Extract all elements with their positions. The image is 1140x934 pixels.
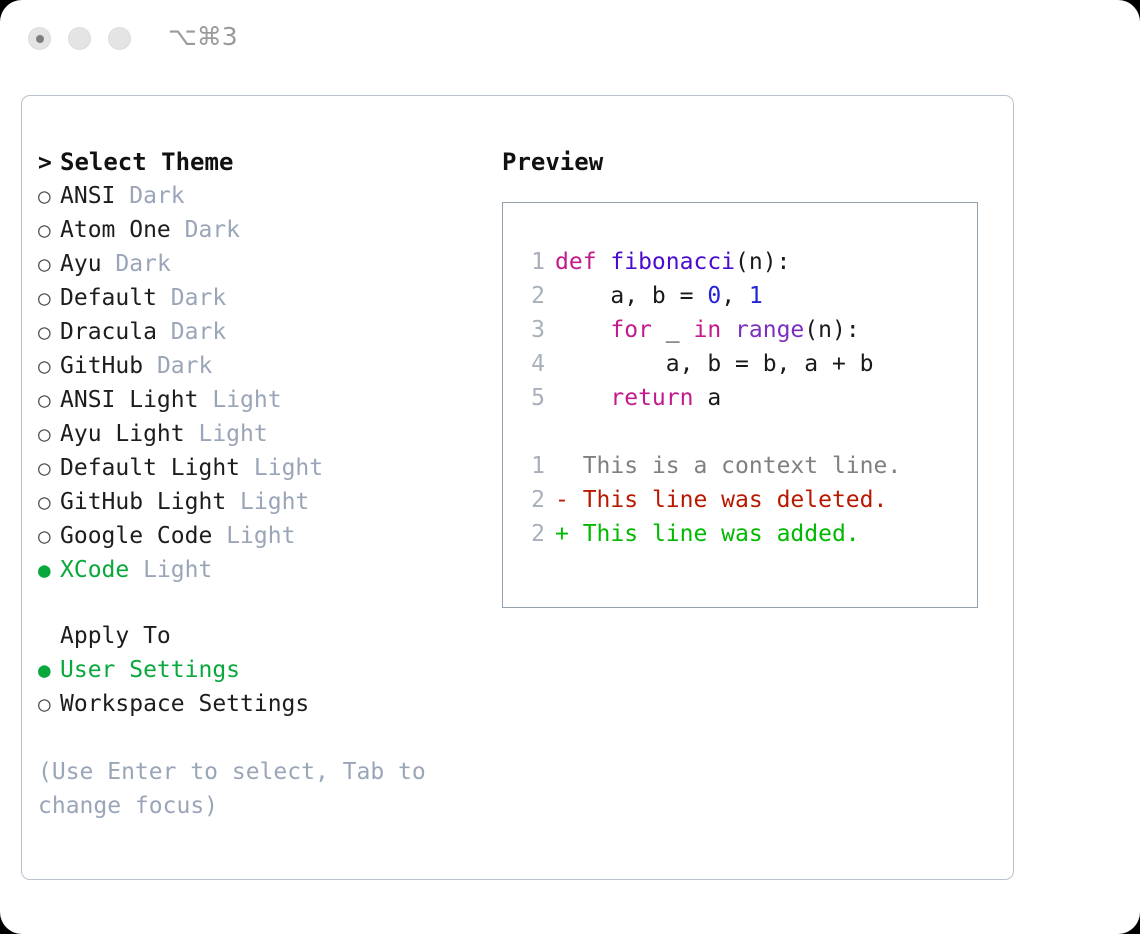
theme-name-label: Google Code (60, 523, 212, 549)
code-token (555, 385, 610, 411)
preview-column: Preview 1def fibonacci(n):2 a, b = 0, 13… (502, 145, 1002, 608)
theme-list-item[interactable]: ●XCode Light (38, 553, 468, 587)
theme-kind-label: Light (143, 557, 212, 583)
theme-name-label: Ayu Light (60, 421, 185, 447)
window-dot-active-core (36, 35, 44, 43)
theme-list-item[interactable]: ○Google Code Light (38, 519, 468, 553)
theme-kind-label: Dark (171, 285, 226, 311)
diff-line: 2- This line was deleted. (523, 483, 901, 517)
theme-list-item[interactable]: ○Ayu Dark (38, 247, 468, 281)
theme-list: ○ANSI Dark○Atom One Dark○Ayu Dark○Defaul… (38, 179, 468, 587)
keyboard-hint-text: (Use Enter to select, Tab to change focu… (38, 755, 438, 823)
theme-kind-label: Dark (115, 251, 170, 277)
code-line: 1def fibonacci(n): (523, 245, 901, 279)
window-dot-three[interactable] (108, 27, 131, 50)
diff-text: This line was deleted. (569, 487, 888, 513)
apply-to-option[interactable]: ○Workspace Settings (38, 687, 468, 721)
apply-to-option-label: Workspace Settings (60, 691, 309, 717)
theme-list-item[interactable]: ○ANSI Light Light (38, 383, 468, 417)
diff-marker: - (555, 487, 569, 513)
code-line: 4 a, b = b, a + b (523, 347, 901, 381)
code-token: a, b = (555, 283, 707, 309)
radio-unselected-icon[interactable]: ○ (38, 383, 60, 417)
code-token: in (693, 317, 721, 343)
code-token: 0 (707, 283, 721, 309)
theme-kind-label: Light (240, 489, 309, 515)
line-number: 2 (523, 483, 545, 517)
code-token: def (555, 249, 610, 275)
apply-to-options: ●User Settings○Workspace Settings (38, 653, 468, 721)
radio-unselected-icon[interactable]: ○ (38, 349, 60, 383)
theme-list-item[interactable]: ○Default Light Light (38, 451, 468, 485)
line-number: 3 (523, 313, 545, 347)
code-line: 3 for _ in range(n): (523, 313, 901, 347)
radio-unselected-icon[interactable]: ○ (38, 179, 60, 213)
line-number: 2 (523, 517, 545, 551)
code-token (555, 317, 610, 343)
diff-marker (555, 453, 569, 479)
apply-to-option-label: User Settings (60, 657, 240, 683)
line-number: 2 (523, 279, 545, 313)
code-token: _ (652, 317, 694, 343)
theme-name-label: Atom One (60, 217, 171, 243)
line-number: 1 (523, 449, 545, 483)
code-token: 1 (749, 283, 763, 309)
code-token: range (735, 317, 804, 343)
preview-box: 1def fibonacci(n):2 a, b = 0, 13 for _ i… (502, 202, 978, 608)
apply-to-title: Apply To (38, 623, 171, 649)
code-token: a (693, 385, 721, 411)
theme-list-item[interactable]: ○Atom One Dark (38, 213, 468, 247)
theme-list-item[interactable]: ○ANSI Dark (38, 179, 468, 213)
apply-to-header: Apply To (38, 619, 468, 653)
theme-kind-label: Dark (129, 183, 184, 209)
diff-line: 2+ This line was added. (523, 517, 901, 551)
theme-list-item[interactable]: ○Dracula Dark (38, 315, 468, 349)
theme-name-label: Default (60, 285, 157, 311)
line-number: 1 (523, 245, 545, 279)
theme-list-item[interactable]: ○Default Dark (38, 281, 468, 315)
main-panel: >Select Theme ○ANSI Dark○Atom One Dark○A… (21, 95, 1014, 880)
theme-kind-label: Dark (157, 353, 212, 379)
theme-list-item[interactable]: ○GitHub Light Light (38, 485, 468, 519)
theme-kind-label: Light (212, 387, 281, 413)
radio-unselected-icon[interactable]: ○ (38, 485, 60, 519)
theme-name-label: ANSI Light (60, 387, 198, 413)
radio-unselected-icon[interactable]: ○ (38, 315, 60, 349)
theme-kind-label: Dark (185, 217, 240, 243)
apply-to-group: Apply To ●User Settings○Workspace Settin… (38, 619, 468, 721)
select-theme-title: Select Theme (60, 148, 233, 176)
diff-line: 1 This is a context line. (523, 449, 901, 483)
line-number: 4 (523, 347, 545, 381)
radio-unselected-icon[interactable]: ○ (38, 247, 60, 281)
theme-list-item[interactable]: ○Ayu Light Light (38, 417, 468, 451)
theme-name-label: ANSI (60, 183, 115, 209)
theme-name-label: Dracula (60, 319, 157, 345)
code-preview: 1def fibonacci(n):2 a, b = 0, 13 for _ i… (523, 245, 901, 551)
code-token: (n): (735, 249, 790, 275)
diff-text: This is a context line. (569, 453, 901, 479)
caret-icon: > (38, 146, 60, 180)
theme-kind-label: Light (254, 455, 323, 481)
radio-unselected-icon[interactable]: ○ (38, 213, 60, 247)
app-window: ⌥⌘3 >Select Theme ○ANSI Dark○Atom One Da… (0, 0, 1140, 934)
spacer (523, 415, 901, 449)
code-token: return (610, 385, 693, 411)
diff-text: This line was added. (569, 521, 860, 547)
select-theme-header: >Select Theme (38, 145, 468, 179)
theme-name-label: Ayu (60, 251, 102, 277)
diff-marker: + (555, 521, 569, 547)
code-token: fibonacci (610, 249, 735, 275)
radio-unselected-icon[interactable]: ○ (38, 687, 60, 721)
code-token (721, 317, 735, 343)
theme-name-label: XCode (60, 557, 129, 583)
theme-name-label: GitHub (60, 353, 143, 379)
window-dot-two[interactable] (68, 27, 91, 50)
theme-selector-column: >Select Theme ○ANSI Dark○Atom One Dark○A… (38, 145, 468, 823)
apply-to-option[interactable]: ●User Settings (38, 653, 468, 687)
radio-unselected-icon[interactable]: ○ (38, 281, 60, 315)
title-bar: ⌥⌘3 (0, 0, 1140, 78)
preview-title: Preview (502, 145, 1002, 179)
code-token: a, b = b, a + b (555, 351, 874, 377)
radio-selected-icon[interactable]: ● (38, 553, 60, 587)
code-token: for (610, 317, 652, 343)
theme-kind-label: Light (198, 421, 267, 447)
code-line: 5 return a (523, 381, 901, 415)
theme-list-item[interactable]: ○GitHub Dark (38, 349, 468, 383)
theme-kind-label: Dark (171, 319, 226, 345)
code-token: , (721, 283, 749, 309)
keyboard-shortcut-label: ⌥⌘3 (168, 22, 238, 51)
radio-unselected-icon[interactable]: ○ (38, 519, 60, 553)
code-line: 2 a, b = 0, 1 (523, 279, 901, 313)
theme-name-label: GitHub Light (60, 489, 226, 515)
radio-unselected-icon[interactable]: ○ (38, 451, 60, 485)
theme-name-label: Default Light (60, 455, 240, 481)
code-token: (n): (804, 317, 859, 343)
line-number: 5 (523, 381, 545, 415)
radio-selected-icon[interactable]: ● (38, 653, 60, 687)
radio-unselected-icon[interactable]: ○ (38, 417, 60, 451)
theme-kind-label: Light (226, 523, 295, 549)
